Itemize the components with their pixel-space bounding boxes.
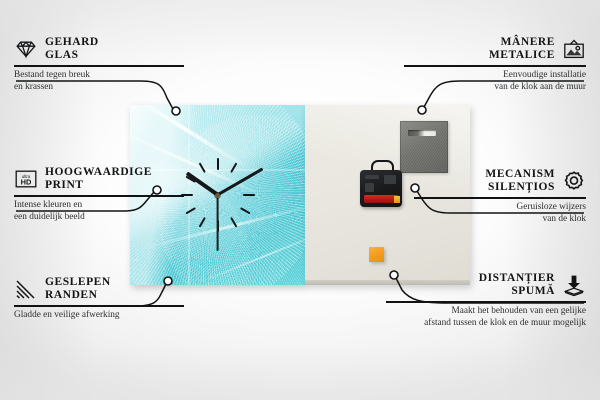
picture-hanger-icon [562, 37, 586, 61]
clock-second-hand [217, 195, 219, 251]
callout-manere-metalice: MÂNERE METALICE Eenvoudige installatie v… [404, 36, 586, 93]
mechanism-detail-2 [384, 175, 396, 184]
callout-header: MÂNERE METALICE [404, 36, 586, 61]
callout-title: MECANISM SILENȚIOS [485, 168, 555, 193]
infographic-canvas: GEHARD GLAS Bestand tegen breuk en krass… [0, 0, 600, 400]
callout-subtitle: Eenvoudige installatie van de klok aan d… [404, 70, 586, 93]
foam-spacer [369, 247, 384, 262]
callout-mecanism-silentios: MECANISM SILENȚIOS Geruisloze wijzers va… [414, 168, 586, 225]
hanger-keyhole-slot [408, 130, 436, 136]
callout-rule [14, 195, 184, 197]
callout-rule [386, 301, 586, 303]
callout-rule [14, 305, 184, 307]
clock-mechanism [360, 167, 402, 207]
mechanism-detail-1 [365, 175, 379, 179]
callout-header: GESLEPEN RANDEN [14, 276, 184, 301]
callout-subtitle: Gladde en veilige afwerking [14, 310, 184, 321]
battery [364, 195, 398, 203]
callout-header: ultra HD HOOGWAARDIGE PRINT [14, 166, 184, 191]
callout-distantier-spuma: DISTANȚIER SPUMĂ Maakt het behouden van … [386, 272, 586, 329]
callout-subtitle: Maakt het behouden van een gelijke afsta… [386, 306, 586, 329]
callout-title: GEHARD GLAS [45, 36, 99, 61]
callout-subtitle: Bestand tegen breuk en krassen [14, 70, 184, 93]
gear-icon [562, 169, 586, 193]
callout-title: MÂNERE METALICE [489, 36, 555, 61]
down-arrow-stack-icon [562, 273, 586, 297]
callout-rule [14, 65, 184, 67]
callout-gehard-glas: GEHARD GLAS Bestand tegen breuk en krass… [14, 36, 184, 93]
diamond-icon [14, 37, 38, 61]
callout-header: GEHARD GLAS [14, 36, 184, 61]
clock-center-hub [215, 193, 220, 198]
callout-header: DISTANȚIER SPUMĂ [386, 272, 586, 297]
callout-geslepen-randen: GESLEPEN RANDEN Gladde en veilige afwerk… [14, 276, 184, 322]
callout-hoogwaardige-print: ultra HD HOOGWAARDIGE PRINT Intense kleu… [14, 166, 184, 223]
callout-subtitle: Intense kleuren en een duidelijk beeld [14, 200, 184, 223]
callout-title: DISTANȚIER SPUMĂ [479, 272, 555, 297]
ultra-hd-icon: ultra HD [14, 167, 38, 191]
callout-title: GESLEPEN RANDEN [45, 276, 111, 301]
callout-title: HOOGWAARDIGE PRINT [45, 166, 152, 191]
callout-rule [414, 197, 586, 199]
svg-text:HD: HD [21, 177, 32, 186]
callout-header: MECANISM SILENȚIOS [414, 168, 586, 193]
callout-rule [404, 65, 586, 67]
callout-subtitle: Geruisloze wijzers van de klok [414, 202, 586, 225]
mechanism-detail-3 [365, 183, 374, 192]
diagonal-lines-icon [14, 277, 38, 301]
metal-hanger-plate [400, 121, 448, 173]
battery-terminal [394, 196, 400, 203]
mechanism-housing [360, 170, 402, 207]
